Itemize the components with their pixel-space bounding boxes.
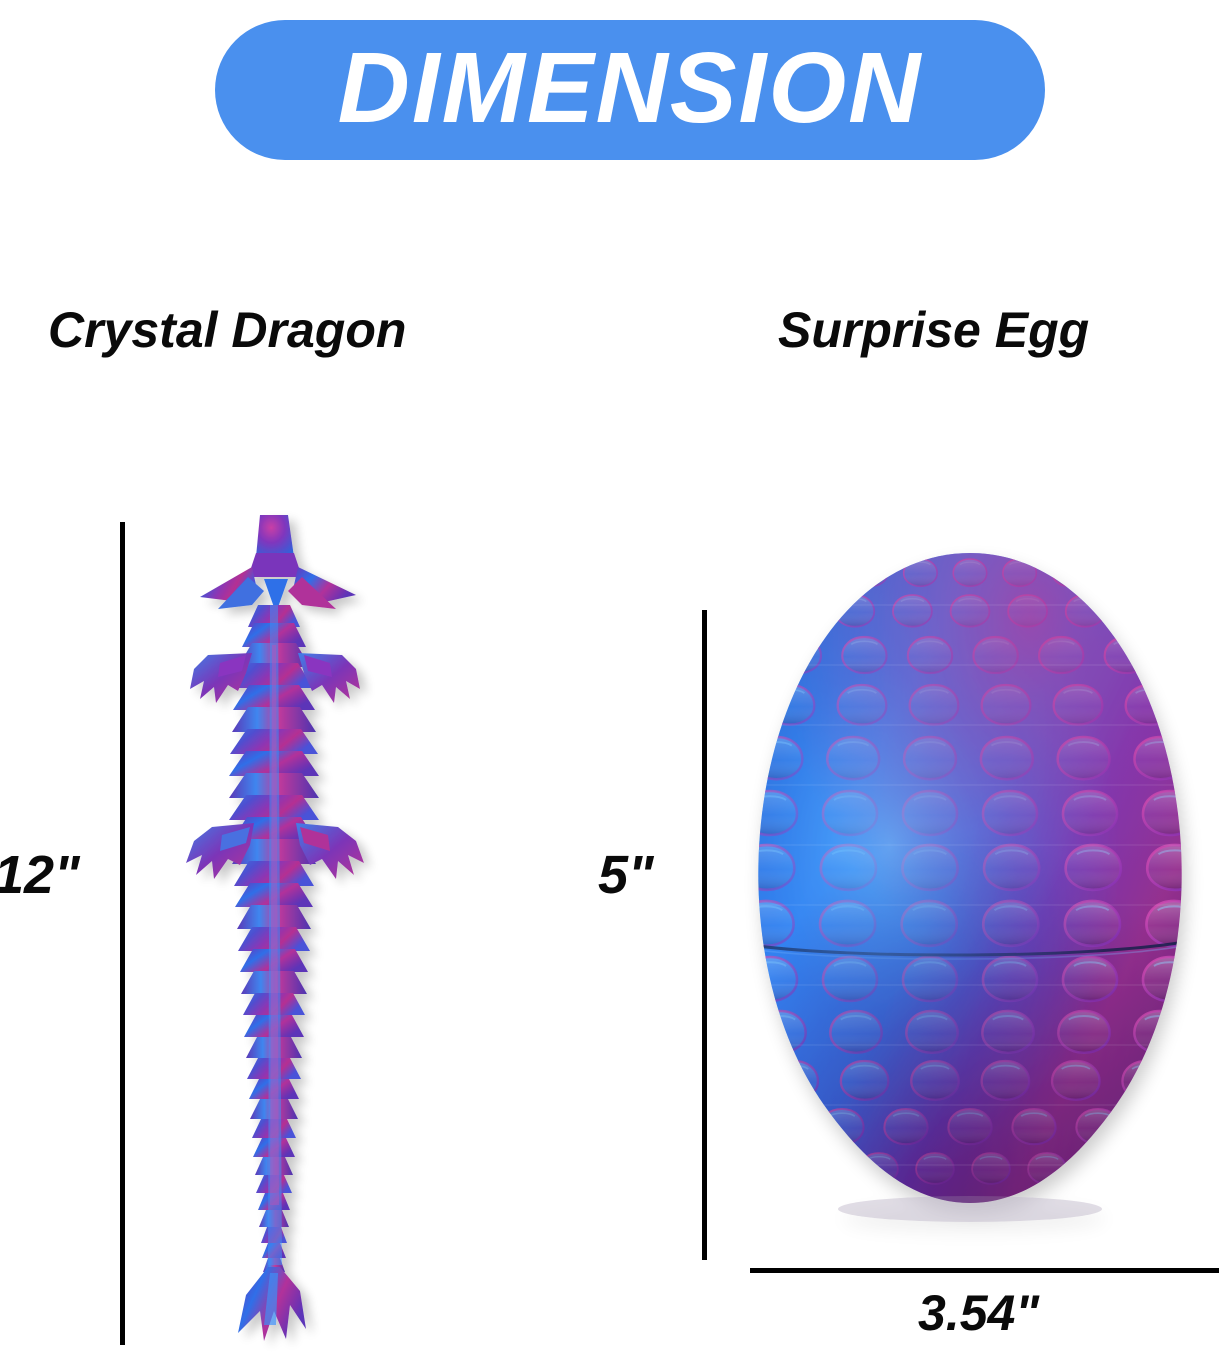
dragon-tail-fin (238, 1267, 306, 1341)
surprise-egg-figure (720, 545, 1219, 1260)
dimension-header-label: DIMENSION (338, 38, 923, 138)
egg-width-label: 3.54" (918, 1288, 1039, 1338)
product-caption-crystal-dragon: Crystal Dragon (48, 305, 406, 355)
dragon-height-label: 12" (0, 848, 80, 902)
dragon-spine (229, 605, 319, 1272)
egg-height-rule (702, 610, 707, 1260)
dimension-header-badge: DIMENSION (215, 20, 1045, 160)
egg-scale-texture (720, 545, 1219, 1260)
product-caption-surprise-egg: Surprise Egg (778, 305, 1089, 355)
egg-width-rule (750, 1268, 1219, 1273)
crystal-dragon-figure (160, 505, 390, 1355)
egg-height-label: 5" (598, 848, 654, 902)
dragon-head (200, 515, 356, 613)
dragon-height-rule (120, 522, 125, 1345)
dimension-infographic: DIMENSION Crystal Dragon Surprise Egg (0, 0, 1219, 1357)
